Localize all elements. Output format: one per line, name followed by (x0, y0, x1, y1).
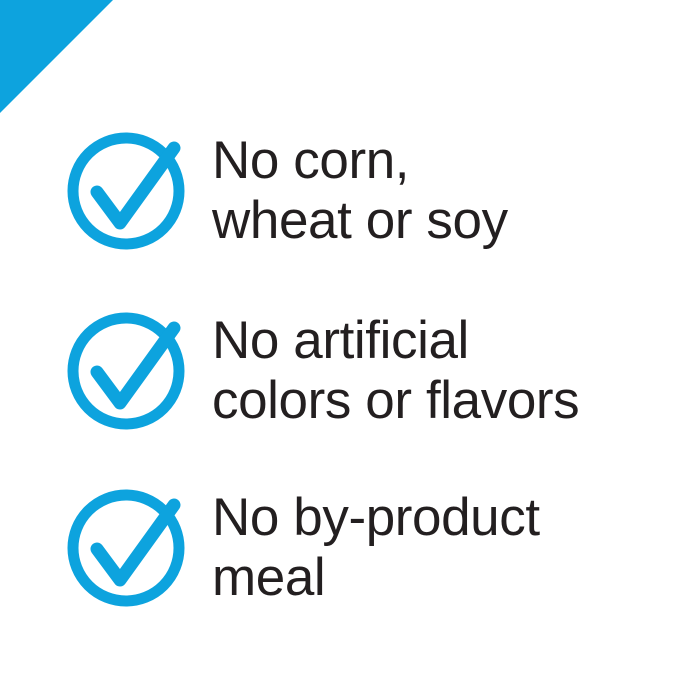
check-circle-icon (64, 309, 188, 433)
feature-item: No by-product meal (64, 486, 684, 610)
feature-item: No corn, wheat or soy (64, 129, 684, 253)
feature-item-label: No corn, wheat or soy (212, 131, 684, 251)
feature-list: No corn, wheat or soy No artificial colo… (0, 0, 700, 700)
feature-item: No artificial colors or flavors (64, 309, 684, 433)
check-circle-icon (64, 129, 188, 253)
feature-item-label: No artificial colors or flavors (212, 311, 684, 431)
feature-item-label: No by-product meal (212, 488, 684, 608)
product-claims-graphic: No corn, wheat or soy No artificial colo… (0, 0, 700, 700)
check-circle-icon (64, 486, 188, 610)
